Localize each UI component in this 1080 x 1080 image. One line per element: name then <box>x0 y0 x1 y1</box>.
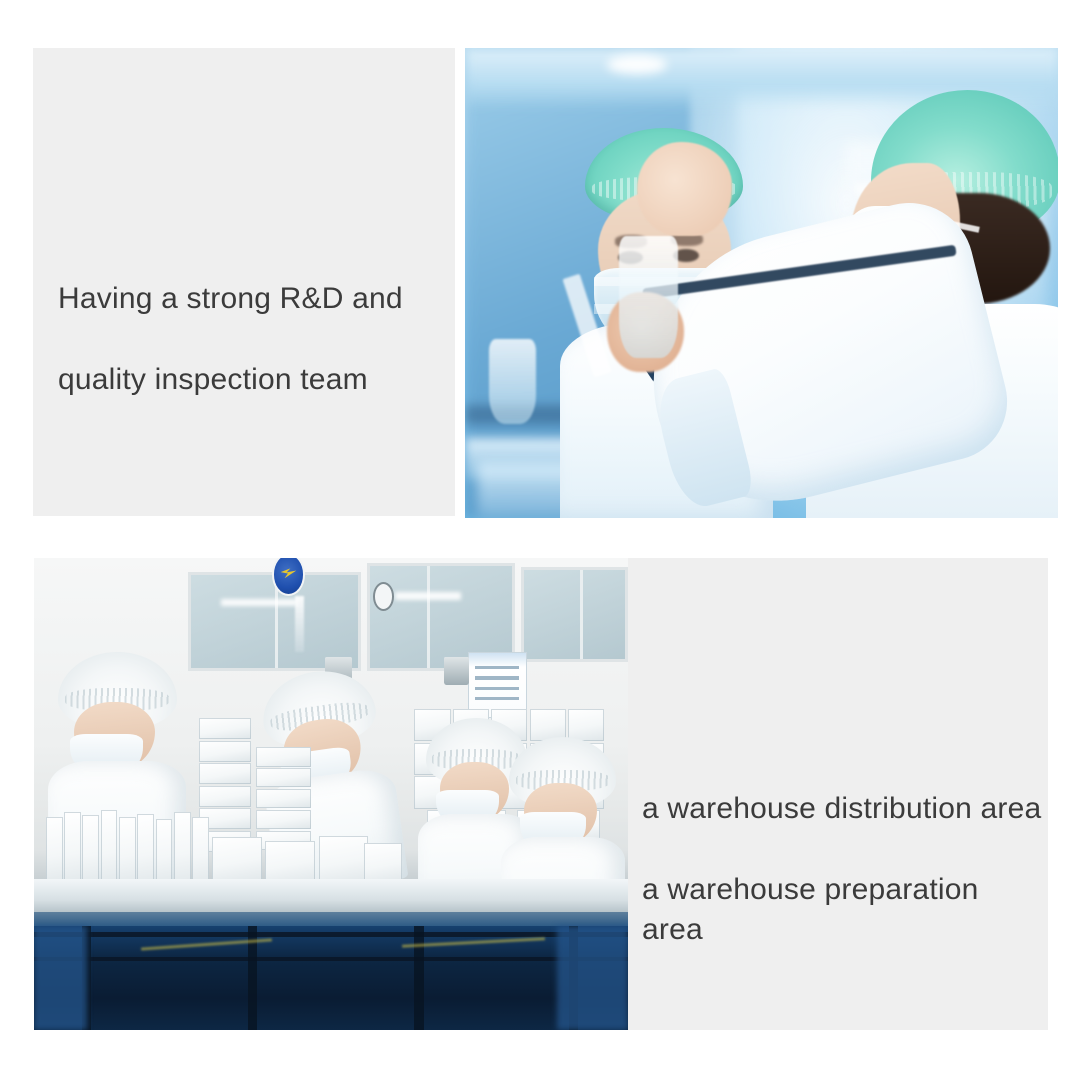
window-mullion <box>427 566 430 669</box>
notice-line <box>475 687 519 690</box>
warehouse-packing-photo <box>34 558 628 1030</box>
window-mullion <box>580 570 583 658</box>
steel-container-icon <box>444 657 469 685</box>
top-caption-line-1: Having a strong R&D and <box>58 279 438 320</box>
notice-line <box>475 676 519 679</box>
floor-marking <box>402 937 545 948</box>
window-lamp <box>221 599 297 606</box>
table-leg <box>414 926 424 1030</box>
table-rail <box>34 957 628 961</box>
floor-panel <box>34 926 87 1030</box>
notice-line <box>475 666 519 669</box>
glass-beaker-icon <box>489 339 536 424</box>
bottom-caption-line-1: a warehouse distribution area <box>642 789 1046 830</box>
table-rail <box>34 932 628 936</box>
notice-line <box>475 697 519 700</box>
blue-safety-sign-icon <box>272 558 305 596</box>
carton-row-left <box>46 803 212 888</box>
lab-inspection-photo <box>465 48 1058 518</box>
interior-window <box>521 567 628 661</box>
top-caption: Having a strong R&D and quality inspecti… <box>58 238 438 441</box>
gloved-hand <box>637 142 732 236</box>
glass-flask-icon <box>619 236 678 358</box>
bottom-caption-line-2: a warehouse preparation area <box>642 870 1046 951</box>
ceiling-lamp-icon <box>607 55 666 74</box>
bottom-caption: a warehouse distribution area a warehous… <box>642 748 1046 991</box>
wall-clock-icon <box>373 582 394 611</box>
ceiling-duct <box>295 596 303 653</box>
floor-panel <box>557 926 628 1030</box>
top-caption-line-2: quality inspection team <box>58 360 438 401</box>
collage-root: Having a strong R&D and quality inspecti… <box>0 0 1080 1080</box>
top-caption-panel: Having a strong R&D and quality inspecti… <box>33 48 455 516</box>
warehouse-floor <box>34 926 628 1030</box>
bottom-caption-panel: a warehouse distribution area a warehous… <box>628 558 1048 1030</box>
window-lamp <box>395 592 461 599</box>
table-edge <box>34 912 628 926</box>
